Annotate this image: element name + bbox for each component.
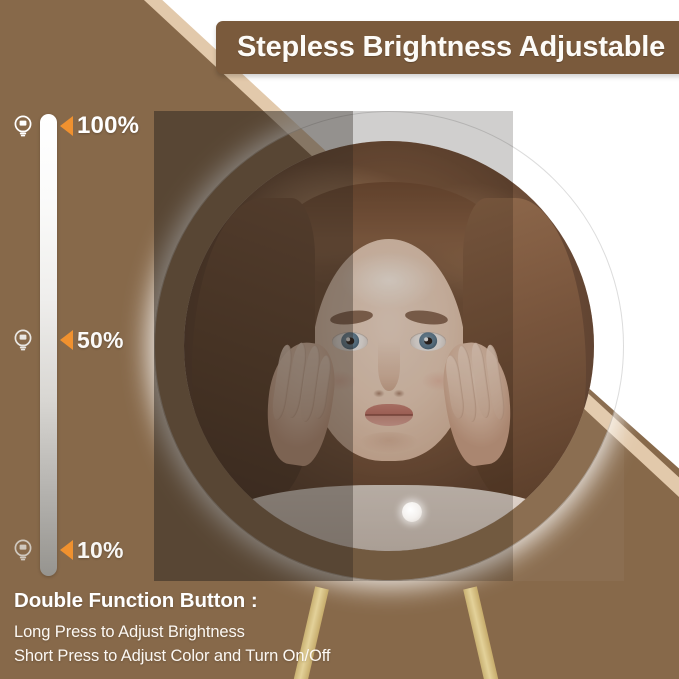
iris-right — [419, 332, 437, 349]
iris-left — [341, 332, 359, 349]
eye-glint-left — [346, 337, 351, 342]
brightness-slider-track[interactable] — [40, 114, 57, 576]
brightness-value-100: 100% — [77, 112, 139, 140]
level-pointer-icon — [60, 540, 73, 560]
caption-title: Double Function Button : — [14, 589, 374, 613]
brightness-value-50: 50% — [77, 327, 124, 354]
mirror — [154, 111, 624, 581]
caption-line-1: Long Press to Adjust Brightness — [14, 620, 374, 644]
headline-banner: Stepless Brightness Adjustable — [216, 21, 679, 74]
light-bulb-icon — [10, 537, 36, 563]
mirror-glass — [184, 141, 594, 551]
eye-glint-right — [424, 337, 429, 342]
eye-right — [410, 332, 447, 351]
light-bulb-icon — [10, 327, 36, 353]
brightness-value-10: 10% — [77, 537, 124, 564]
feature-caption: Double Function Button : Long Press to A… — [14, 589, 374, 669]
nose — [378, 342, 399, 391]
caption-line-2: Short Press to Adjust Color and Turn On/… — [14, 644, 374, 668]
forehead-highlight — [340, 252, 438, 309]
level-pointer-icon — [60, 330, 73, 350]
power-button[interactable] — [402, 502, 422, 522]
eye-left — [332, 332, 369, 351]
product-feature-image: Stepless Brightness Adjustable — [0, 0, 679, 679]
headline-text: Stepless Brightness Adjustable — [237, 31, 665, 64]
nostrils — [371, 389, 407, 398]
shoulders — [217, 485, 561, 551]
level-pointer-icon — [60, 116, 73, 136]
chin-shadow — [360, 432, 417, 453]
light-bulb-icon — [10, 113, 36, 139]
lip-line — [365, 414, 413, 416]
